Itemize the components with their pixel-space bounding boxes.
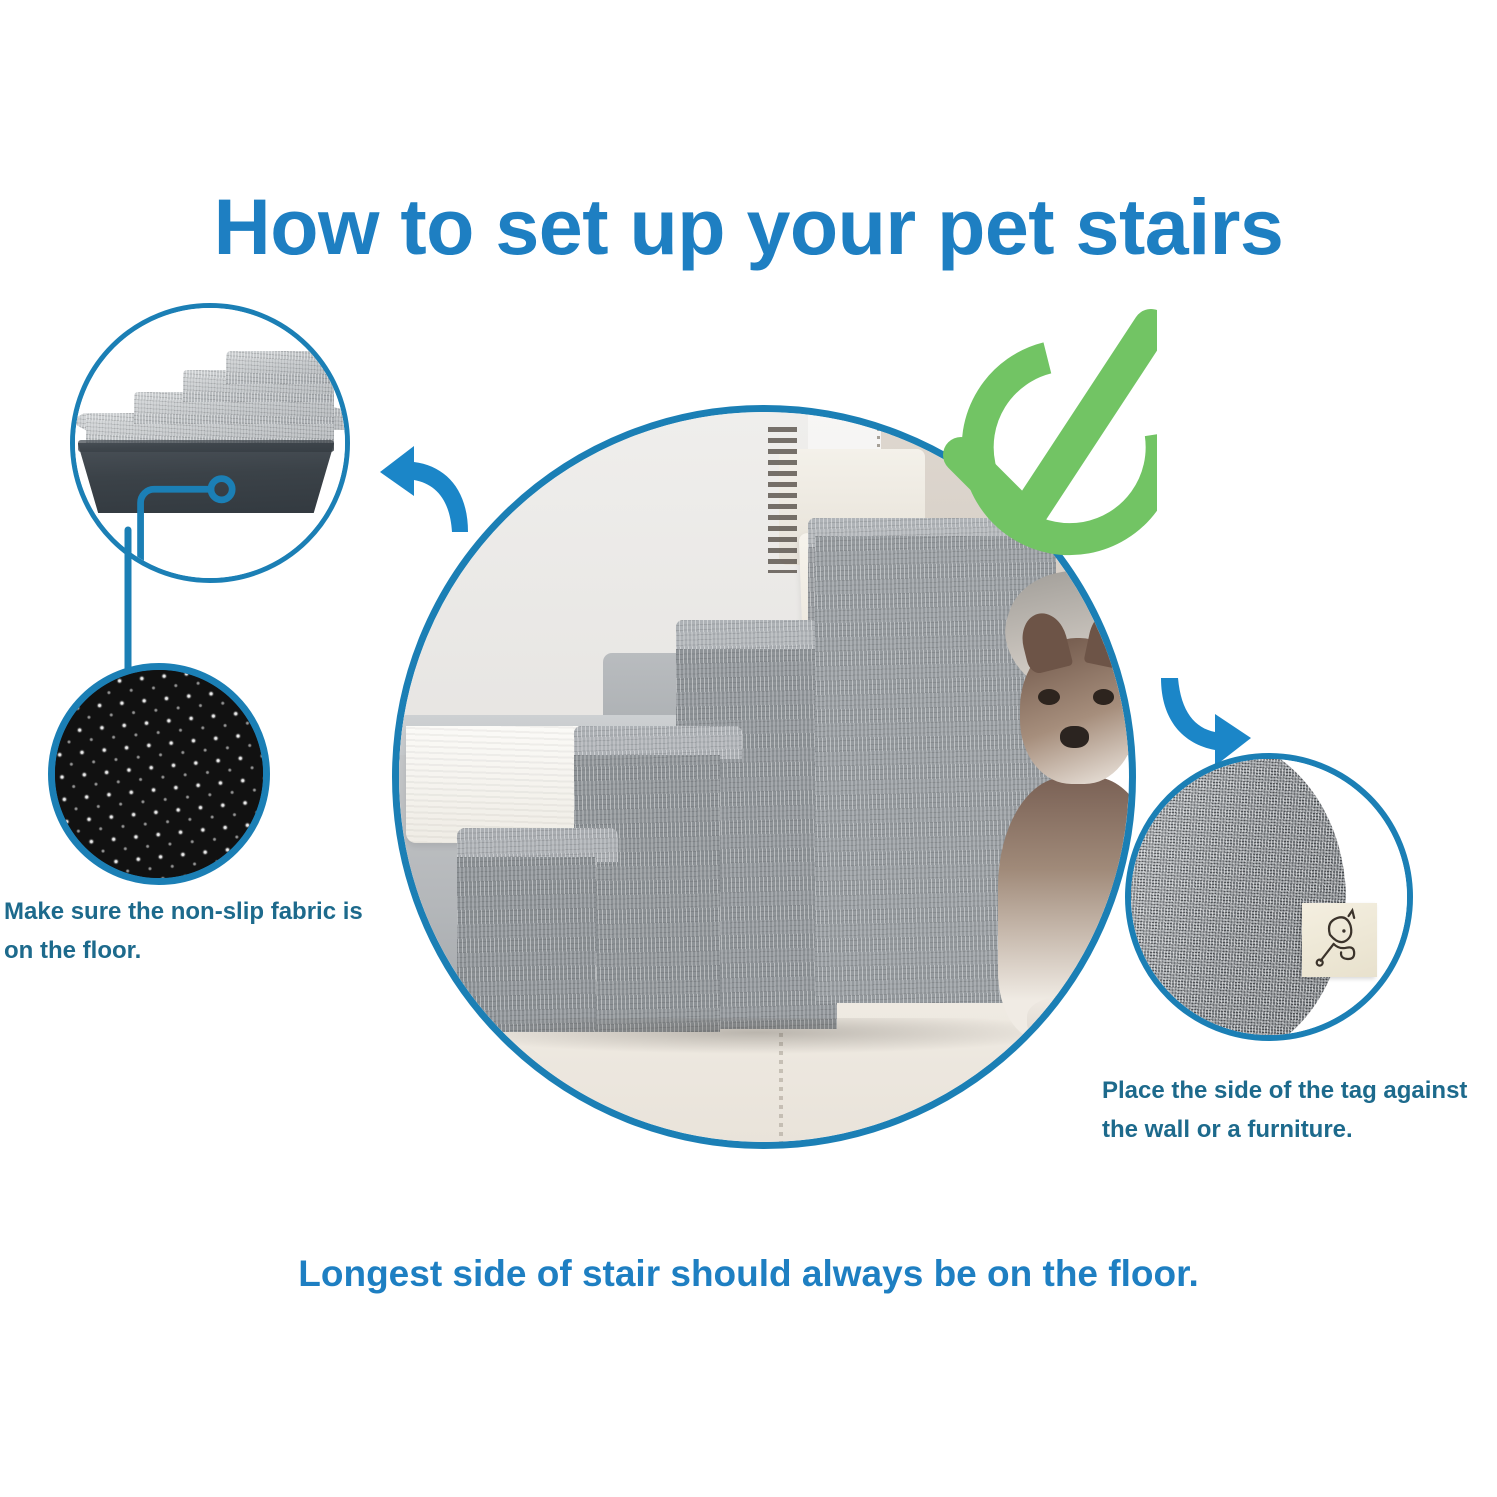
dog-front-paws xyxy=(1027,996,1122,1047)
infographic-page: How to set up your pet stairs Make sure … xyxy=(0,0,1497,1497)
non-slip-dot-texture xyxy=(48,663,270,885)
check-circle-icon xyxy=(925,305,1157,587)
dog-nose xyxy=(1060,726,1089,748)
tag-illustration xyxy=(1131,759,1407,1035)
stair-step-1-riser xyxy=(457,857,596,1032)
pillow-trim-dots xyxy=(768,427,797,573)
stair-fabric-edge xyxy=(1125,753,1346,1041)
caption-non-slip: Make sure the non-slip fabric is on the … xyxy=(4,893,384,971)
inset-non-slip-fabric xyxy=(48,663,270,885)
caption-tag-placement: Place the side of the tag against the wa… xyxy=(1102,1072,1497,1150)
stair-step-2-riser xyxy=(574,755,720,1032)
stairs-shadow xyxy=(443,1018,1071,1055)
page-title: How to set up your pet stairs xyxy=(0,186,1497,269)
bottom-caption: Longest side of stair should always be o… xyxy=(0,1253,1497,1295)
brand-tag xyxy=(1302,903,1377,978)
curved-arrow-up-left-icon xyxy=(372,432,478,538)
dog-line-logo-icon xyxy=(1302,903,1377,978)
inset-tag-edge xyxy=(1125,753,1413,1041)
inset-connector-line xyxy=(60,430,290,690)
